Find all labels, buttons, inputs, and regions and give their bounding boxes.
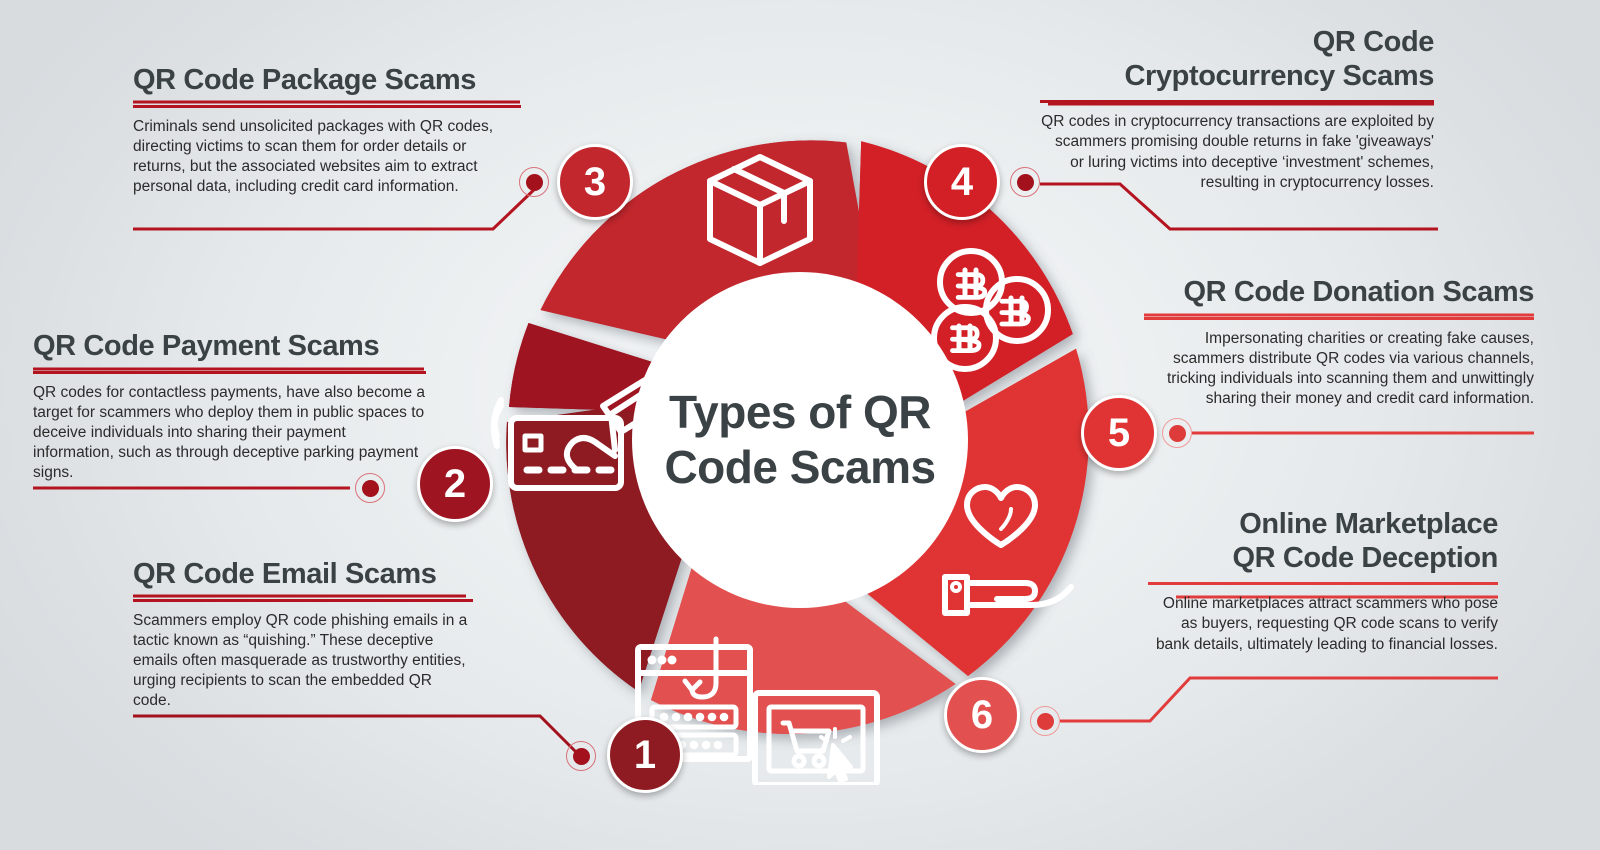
online-shopping-monitor-icon bbox=[755, 693, 877, 785]
section-title-1: QR Code Email Scams bbox=[133, 558, 473, 592]
section-title-5: QR Code Donation Scams bbox=[1144, 276, 1534, 310]
connector-dot-1 bbox=[566, 741, 596, 771]
badge-label-4: 4 bbox=[951, 160, 973, 205]
connector-dot-3 bbox=[519, 167, 549, 197]
badge-number-3[interactable]: 3 bbox=[557, 144, 633, 220]
title-underline-5 bbox=[1144, 317, 1534, 320]
section-block-6: Online Marketplace QR Code Deception Onl… bbox=[1148, 508, 1498, 655]
badge-label-5: 5 bbox=[1108, 411, 1130, 456]
badge-number-2[interactable]: 2 bbox=[417, 446, 493, 522]
scam-types-wheel bbox=[455, 95, 1145, 785]
title-underline-3 bbox=[133, 105, 521, 108]
badge-label-3: 3 bbox=[584, 160, 606, 205]
section-block-2: QR Code Payment Scams QR codes for conta… bbox=[33, 330, 426, 483]
section-body-3: Criminals send unsolicited packages with… bbox=[133, 117, 521, 198]
connector-dot-6 bbox=[1030, 706, 1060, 736]
section-title-2: QR Code Payment Scams bbox=[33, 330, 426, 364]
section-title-6-line-1: Online Marketplace bbox=[1148, 508, 1498, 542]
section-body-5: Impersonating charities or creating fake… bbox=[1144, 329, 1534, 410]
section-body-4: QR codes in cryptocurrency transactions … bbox=[1040, 112, 1434, 193]
section-block-5: QR Code Donation Scams Impersonating cha… bbox=[1144, 276, 1534, 409]
section-block-4: QR Code Cryptocurrency Scams QR codes in… bbox=[1040, 26, 1434, 193]
infographic-canvas: Types of QR Code Scams 1 2 3 4 5 6 QR Co… bbox=[0, 0, 1600, 850]
connector-dot-4 bbox=[1010, 167, 1040, 197]
title-underline-6 bbox=[1148, 582, 1498, 585]
section-title-4-line-1: QR Code bbox=[1040, 26, 1434, 60]
section-body-6: Online marketplaces attract scammers who… bbox=[1148, 594, 1498, 654]
connector-dot-5 bbox=[1162, 418, 1192, 448]
badge-number-4[interactable]: 4 bbox=[924, 144, 1000, 220]
section-body-1: Scammers employ QR code phishing emails … bbox=[133, 611, 473, 712]
badge-label-1: 1 bbox=[634, 733, 656, 778]
section-block-1: QR Code Email Scams Scammers employ QR c… bbox=[133, 558, 473, 711]
badge-label-2: 2 bbox=[444, 462, 466, 507]
title-underline-4 bbox=[1040, 100, 1434, 103]
title-underline-2 bbox=[33, 371, 426, 374]
section-title-3: QR Code Package Scams bbox=[133, 64, 521, 98]
title-underline-1 bbox=[133, 599, 473, 602]
section-title-4-line-2: Cryptocurrency Scams bbox=[1040, 60, 1434, 94]
badge-number-6[interactable]: 6 bbox=[944, 677, 1020, 753]
section-body-2: QR codes for contactless payments, have … bbox=[33, 383, 426, 484]
section-title-6-line-2: QR Code Deception bbox=[1148, 542, 1498, 576]
badge-number-1[interactable]: 1 bbox=[607, 717, 683, 793]
badge-label-6: 6 bbox=[971, 693, 993, 738]
section-block-3: QR Code Package Scams Criminals send uns… bbox=[133, 64, 521, 197]
